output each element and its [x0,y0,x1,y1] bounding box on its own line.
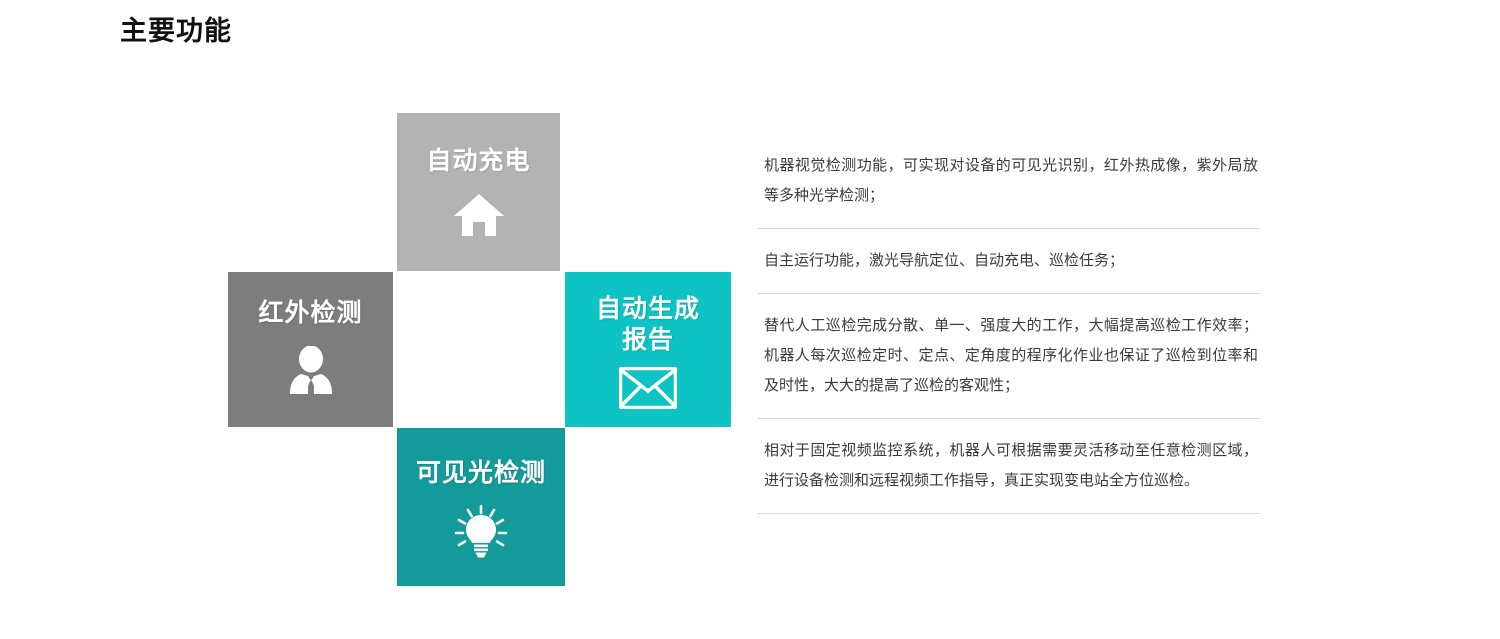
home-icon [453,192,505,238]
page-title: 主要功能 [120,15,232,47]
feature-item-text: 自主运行功能，激光导航定位、自动充电、巡检任务； [758,245,1260,275]
feature-item: 相对于固定视频监控系统，机器人可根据需要灵活移动至任意检测区域，进行设备检测和远… [758,435,1260,514]
tile-auto-report-label: 自动生成 报告 [596,294,700,357]
envelope-icon [619,367,677,409]
feature-tile-diagram: 自动充电 红外检测 自动生成 报告 可见光检测 [228,113,733,586]
feature-list: 机器视觉检测功能，可实现对设备的可见光识别，红外热成像，紫外局放等多种光学检测；… [758,150,1260,530]
feature-item: 机器视觉检测功能，可实现对设备的可见光识别，红外热成像，紫外局放等多种光学检测； [758,150,1260,229]
feature-item: 自主运行功能，激光导航定位、自动充电、巡检任务； [758,245,1260,294]
tile-auto-charging[interactable]: 自动充电 [397,113,560,271]
tile-auto-charging-label: 自动充电 [426,146,530,177]
person-icon [288,346,334,396]
tile-infrared-detection-label: 红外检测 [258,298,362,329]
tile-infrared-detection[interactable]: 红外检测 [228,272,393,427]
feature-item-text: 相对于固定视频监控系统，机器人可根据需要灵活移动至任意检测区域，进行设备检测和远… [758,435,1260,495]
feature-item: 替代人工巡检完成分散、单一、强度大的工作，大幅提高巡检工作效率；机器人每次巡检定… [758,310,1260,419]
feature-item-text: 机器视觉检测功能，可实现对设备的可见光识别，红外热成像，紫外局放等多种光学检测； [758,150,1260,210]
feature-item-text: 替代人工巡检完成分散、单一、强度大的工作，大幅提高巡检工作效率；机器人每次巡检定… [758,310,1260,400]
lightbulb-icon [453,505,509,559]
tile-visible-light-detection-label: 可见光检测 [416,458,546,489]
tile-visible-light-detection[interactable]: 可见光检测 [397,428,565,586]
tile-auto-report[interactable]: 自动生成 报告 [565,272,731,427]
